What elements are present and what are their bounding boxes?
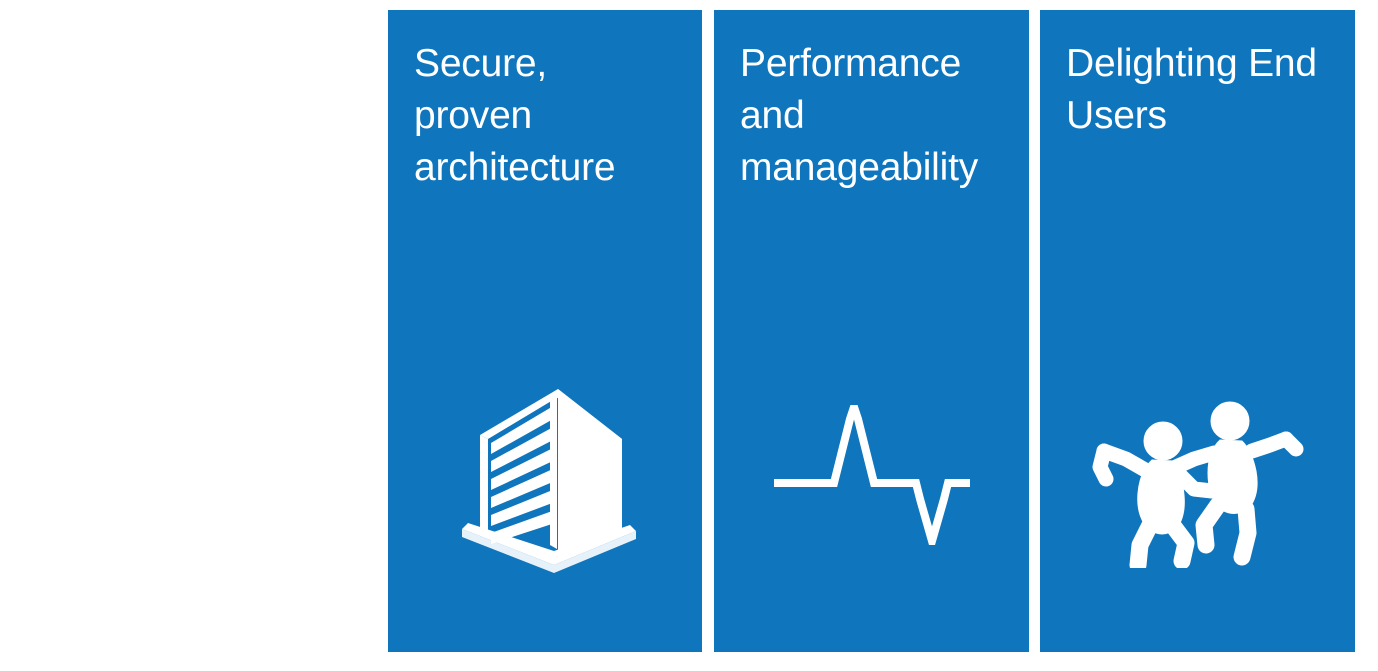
panel-title: Delighting End Users bbox=[1066, 38, 1345, 142]
office-building-icon bbox=[388, 365, 702, 580]
panel-title: Secure, proven architecture bbox=[414, 38, 692, 194]
dancing-people-icon bbox=[1040, 390, 1355, 570]
panel-title: Performance and manageability bbox=[740, 38, 1019, 194]
feature-panel-delighting-end-users[interactable]: Delighting End Users bbox=[1040, 10, 1355, 652]
slide-canvas: Secure, proven architecture bbox=[0, 0, 1378, 671]
pulse-waveform-icon bbox=[714, 400, 1029, 550]
feature-panel-performance-and-manageability[interactable]: Performance and manageability bbox=[714, 10, 1029, 652]
feature-panel-secure-proven-architecture[interactable]: Secure, proven architecture bbox=[388, 10, 702, 652]
